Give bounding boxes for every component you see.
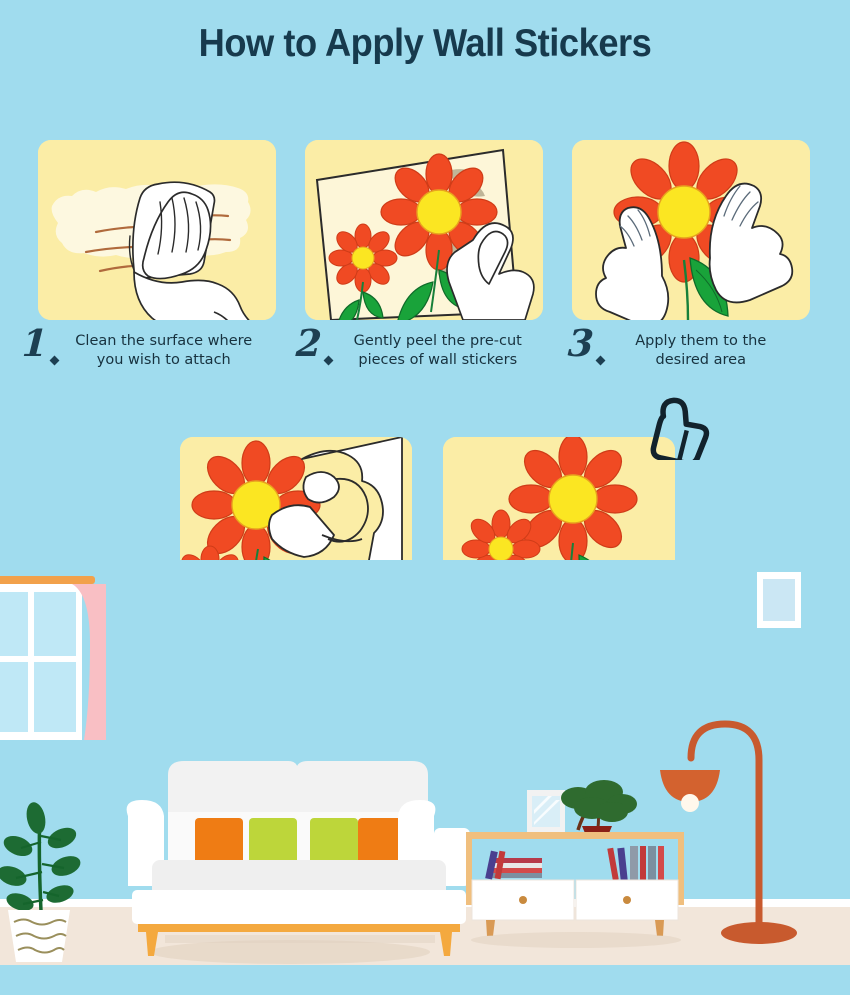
living-room-illustration bbox=[0, 560, 850, 995]
step-2-caption: 2 Gently peel the pre-cut pieces of wall… bbox=[296, 326, 556, 370]
window-with-pink-curtain bbox=[0, 576, 106, 740]
infographic-canvas: How to Apply Wall Stickers bbox=[0, 0, 850, 995]
step-1-illustration bbox=[38, 140, 276, 320]
thumbs-up-icon bbox=[641, 396, 713, 460]
page-title: How to Apply Wall Stickers bbox=[30, 22, 821, 66]
step-2-number: 2 bbox=[295, 326, 323, 360]
step-1-caption: 1 Clean the surface where you wish to at… bbox=[22, 326, 282, 370]
step-3-number-dot bbox=[595, 356, 605, 366]
wall-picture-frame bbox=[757, 572, 801, 628]
step-1-number: 1 bbox=[21, 326, 49, 360]
step-2-illustration bbox=[305, 140, 543, 320]
step-2-text: Gently peel the pre-cut pieces of wall s… bbox=[339, 326, 537, 370]
step-3-caption: 3 Apply them to the desired area bbox=[568, 326, 828, 370]
step-2-number-dot bbox=[323, 356, 333, 366]
step-3-text: Apply them to the desired area bbox=[611, 326, 791, 370]
step-1-number-dot bbox=[49, 356, 59, 366]
step-1-text: Clean the surface where you wish to atta… bbox=[65, 326, 263, 370]
step-3-number: 3 bbox=[567, 326, 595, 360]
step-3-illustration bbox=[572, 140, 810, 320]
